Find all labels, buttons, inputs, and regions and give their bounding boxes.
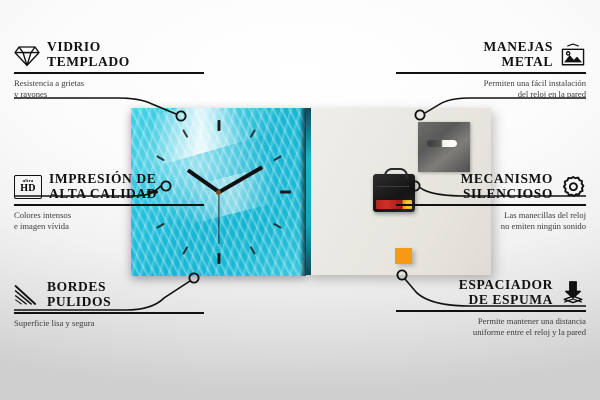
clock-tick [182, 246, 188, 255]
infographic-canvas: VIDRIO TEMPLADO Resistencia a grietas y … [0, 0, 600, 400]
ultra-hd-large-text: HD [20, 184, 36, 194]
feature-bordes-pulidos: BORDES PULIDOS Superficie lisa y segura [14, 280, 204, 329]
ultra-hd-icon: ultra HD [14, 175, 42, 199]
feature-title-line1: IMPRESIÓN DE [49, 172, 157, 187]
clock-tick [217, 120, 220, 131]
feature-subtitle: Superficie lisa y segura [14, 318, 204, 330]
feature-divider [396, 204, 586, 206]
feature-subtitle: Colores intensos e imagen vívida [14, 210, 204, 233]
feature-title-line2: TEMPLADO [47, 55, 130, 70]
diamond-icon [14, 43, 40, 67]
feature-subtitle: Permiten una fácil instalación del reloj… [396, 78, 586, 101]
down-arrow-layers-icon [560, 281, 586, 305]
feature-subtitle: Resistencia a grietas y rayones [14, 78, 204, 101]
feature-title-line1: VIDRIO [47, 40, 130, 55]
feature-title-line2: DE ESPUMA [468, 293, 553, 308]
feature-subtitle: Las manecillas del reloj no emiten ningú… [396, 210, 586, 233]
feature-title-line2: SILENCIOSO [463, 187, 553, 202]
clock-tick [280, 191, 291, 194]
feature-title-line1: BORDES [47, 280, 111, 295]
feature-divider [14, 204, 204, 206]
feature-title-line1: ESPACIADOR [459, 278, 553, 293]
feature-divider [14, 72, 204, 74]
feature-title-line2: METAL [501, 55, 553, 70]
clock-side-edge-strip [306, 108, 311, 275]
feature-divider [396, 72, 586, 74]
feature-vidrio-templado: VIDRIO TEMPLADO Resistencia a grietas y … [14, 40, 204, 101]
feature-espaciador-espuma: ESPACIADOR DE ESPUMA Permite mantener un… [396, 278, 586, 339]
foam-spacer [395, 248, 412, 264]
feature-impresion-alta-calidad: ultra HD IMPRESIÓN DE ALTA CALIDAD Color… [14, 172, 204, 233]
metal-hanger-plate [418, 122, 470, 172]
feature-title-line1: MANEJAS [484, 40, 553, 55]
clock-tick [249, 246, 255, 255]
clock-tick [217, 253, 220, 264]
clock-center-pin [216, 190, 221, 195]
feature-subtitle: Permite mantener una distancia uniforme … [396, 316, 586, 339]
clock-second-hand [218, 192, 219, 244]
clock-tick [273, 155, 282, 161]
gear-icon [560, 175, 586, 199]
picture-frame-hanger-icon [560, 43, 586, 67]
feature-title-line2: ALTA CALIDAD [49, 187, 157, 202]
feature-mecanismo-silencioso: MECANISMO SILENCIOSO Las manecillas del … [396, 172, 586, 233]
feature-divider [14, 312, 204, 314]
feature-title-line1: MECANISMO [461, 172, 553, 187]
feature-divider [396, 310, 586, 312]
hanger-slot [427, 140, 457, 147]
clock-tick [273, 223, 282, 229]
feature-manejas-metal: MANEJAS METAL Permiten una fácil instala… [396, 40, 586, 101]
feature-title-line2: PULIDOS [47, 295, 111, 310]
polished-edges-icon [14, 283, 40, 307]
